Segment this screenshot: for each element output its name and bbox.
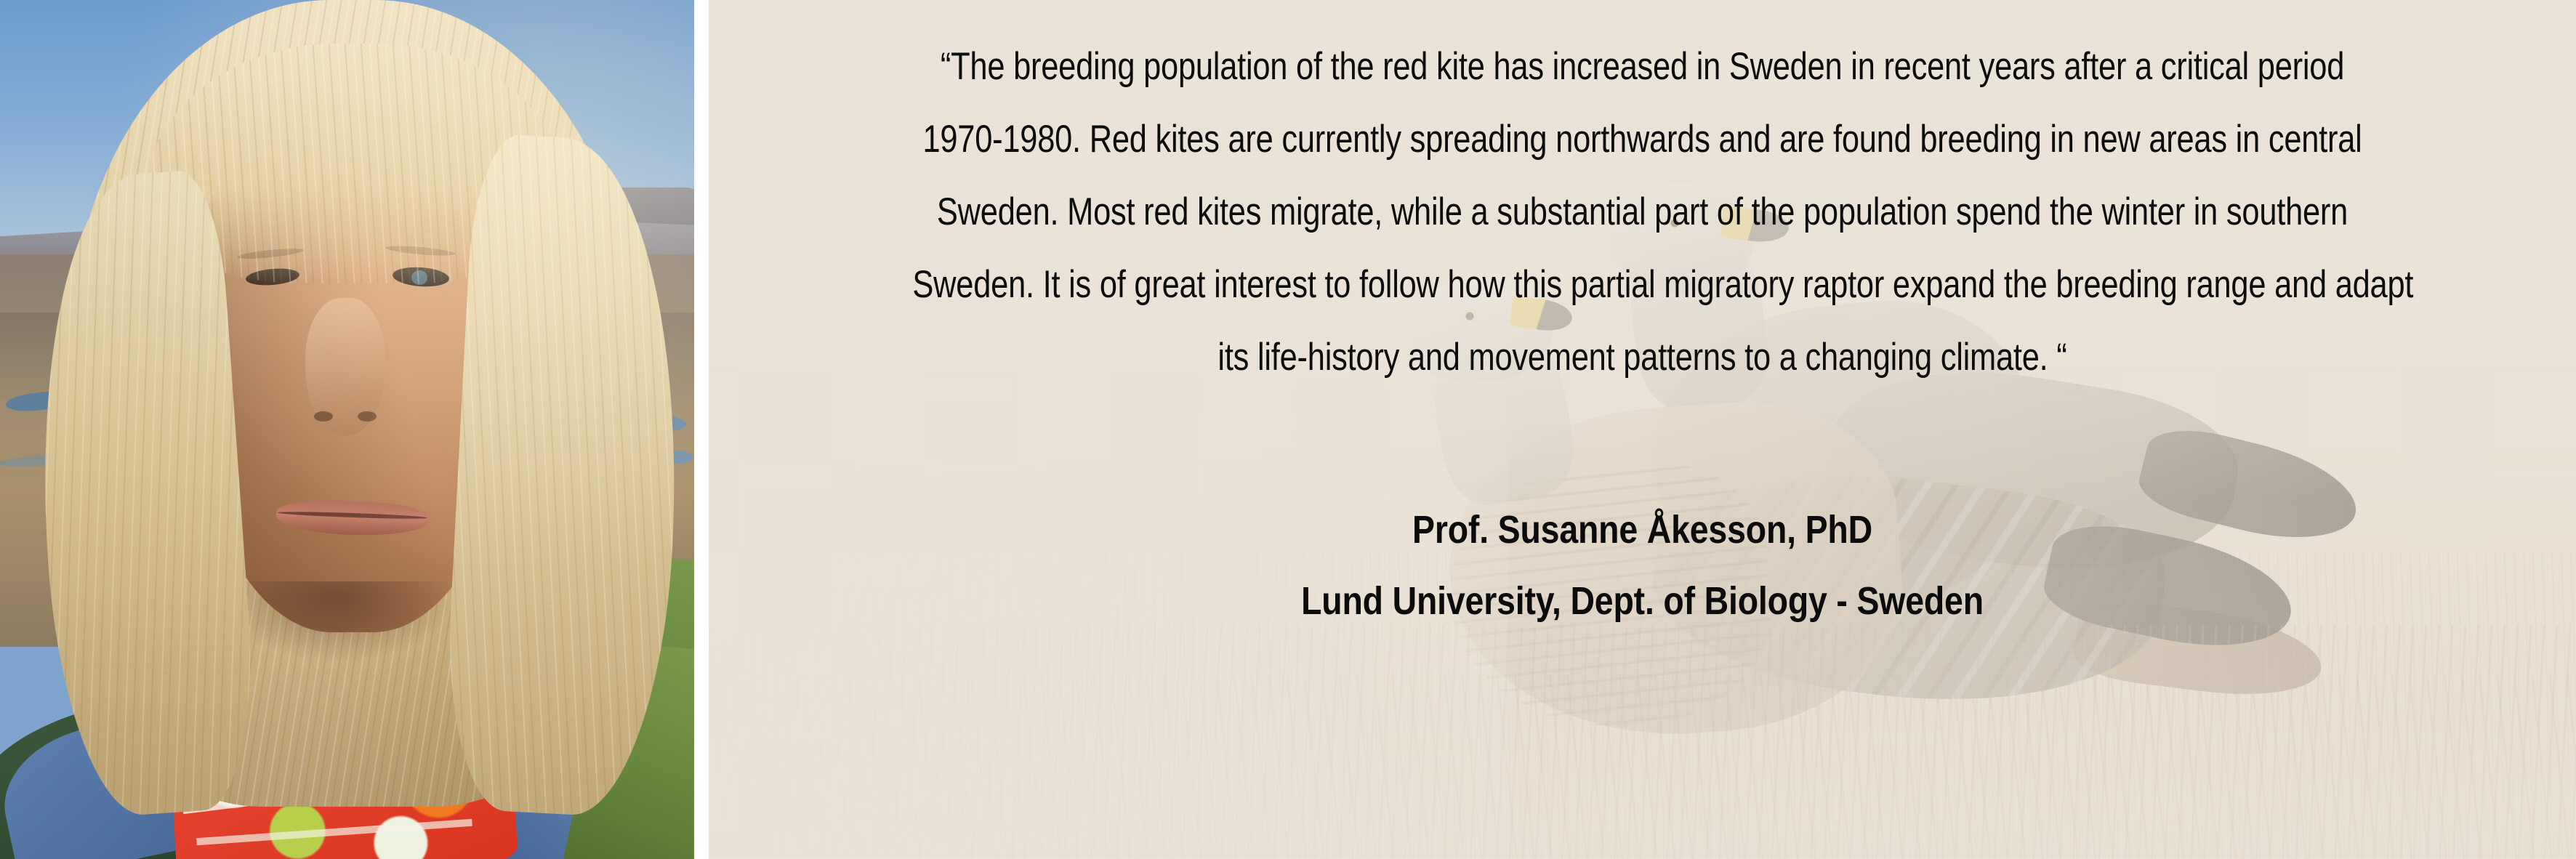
attribution-name: Prof. Susanne Åkesson, PhD [840, 494, 2445, 565]
attribution: Prof. Susanne Åkesson, PhD Lund Universi… [709, 494, 2576, 637]
sunlight-glow [0, 0, 694, 859]
attribution-affiliation: Lund University, Dept. of Biology - Swed… [840, 565, 2445, 637]
quote-line-3: Sweden. Most red kites migrate, while a … [912, 176, 2372, 249]
quote-panel: “The breeding population of the red kite… [709, 0, 2576, 859]
quote-line-4: Sweden. It is of great interest to follo… [912, 249, 2372, 321]
testimonial-slide: “The breeding population of the red kite… [0, 0, 2576, 859]
quote-line-2: 1970-1980. Red kites are currently sprea… [912, 103, 2372, 176]
quote-line-5: its life-history and movement patterns t… [912, 321, 2372, 394]
quote-line-1: “The breeding population of the red kite… [912, 31, 2372, 103]
portrait-photo [0, 0, 694, 859]
quote-text: “The breeding population of the red kite… [709, 31, 2576, 394]
